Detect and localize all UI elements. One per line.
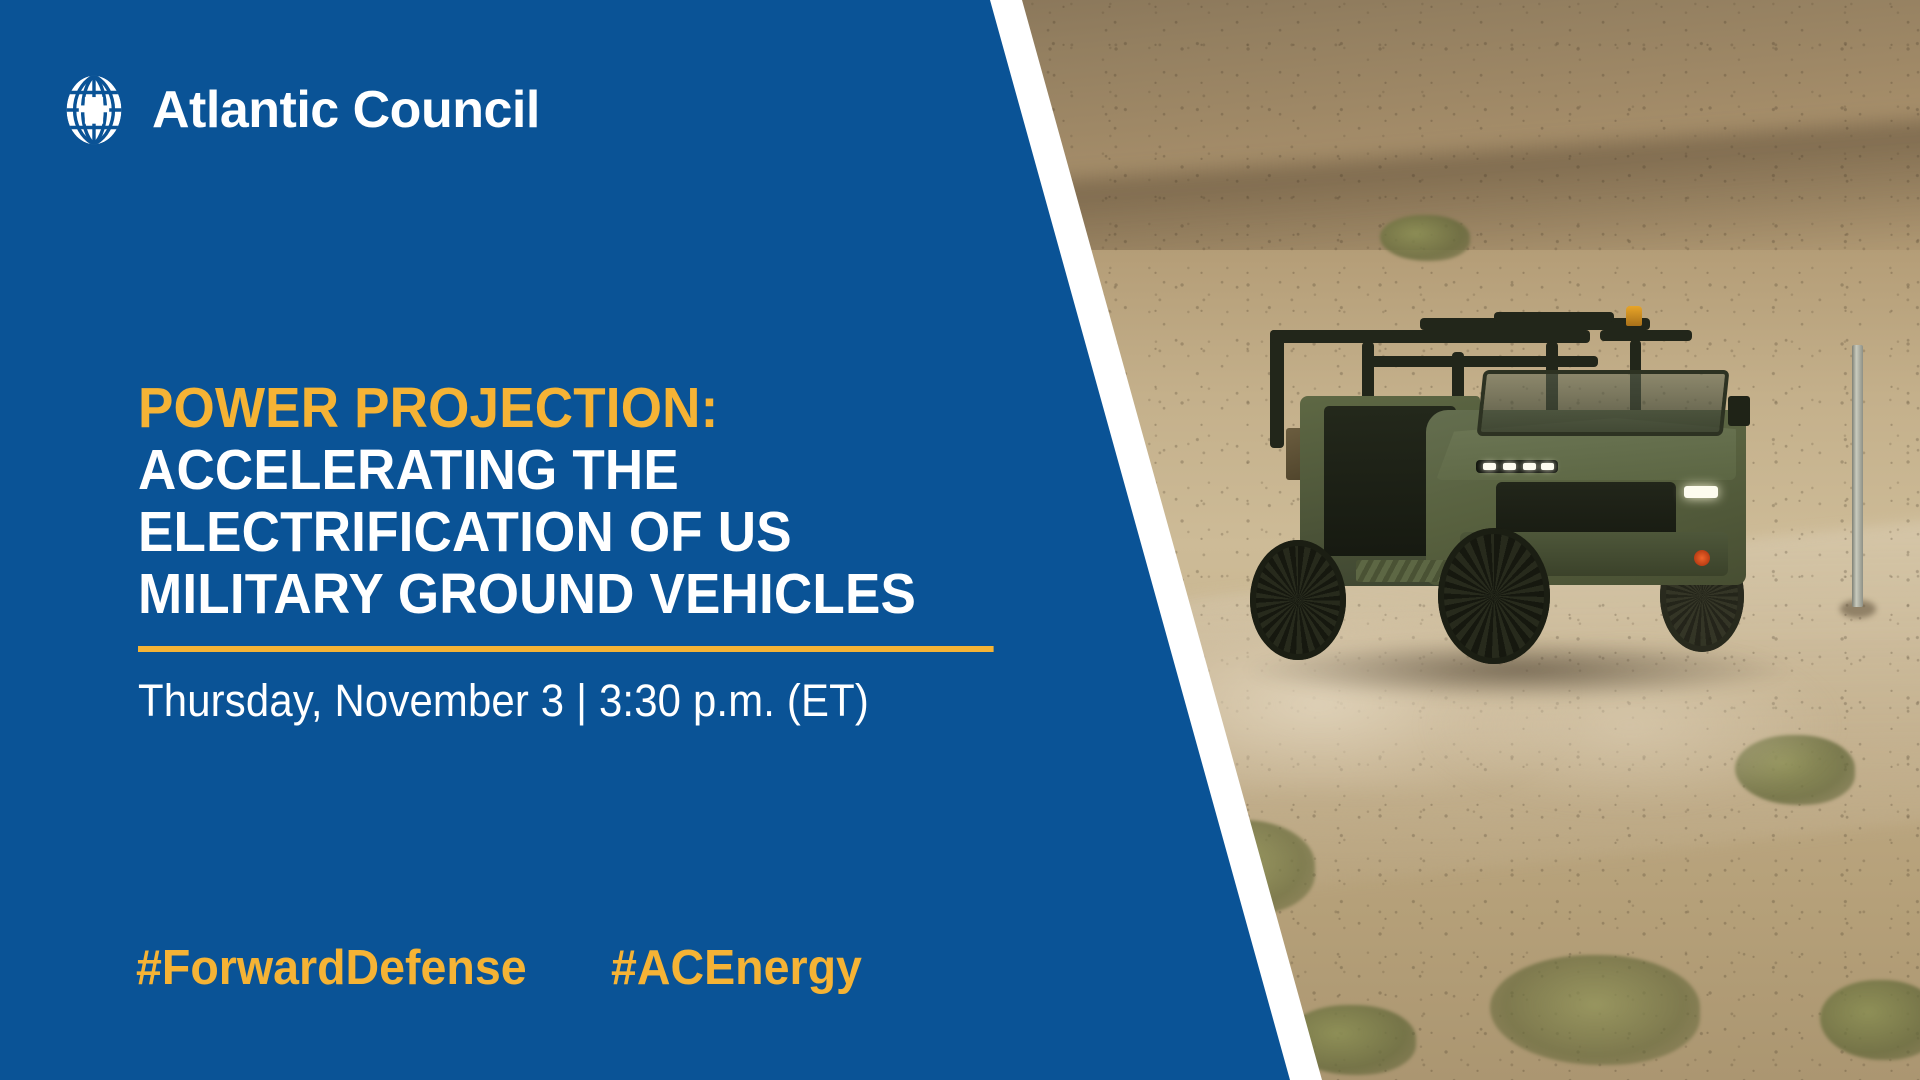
event-title-line-4: MILITARY GROUND VEHICLES — [138, 564, 882, 626]
hashtag-forward-defense[interactable]: #ForwardDefense — [136, 940, 527, 996]
vehicle-tire — [1250, 540, 1346, 660]
vehicle-light-bar — [1476, 460, 1558, 473]
event-date-time: Thursday, November 3 | 3:30 p.m. (ET) — [138, 675, 882, 727]
event-title-line-3: ELECTRIFICATION OF US — [138, 502, 882, 564]
event-title-line-2: ACCELERATING THE — [138, 440, 882, 502]
vehicle-headlamp — [1684, 486, 1718, 498]
vehicle-beacon-stem — [1631, 324, 1637, 350]
vehicle-beacon-light — [1626, 306, 1642, 326]
gold-divider-rule — [138, 646, 994, 652]
hashtag-ac-energy[interactable]: #ACEnergy — [611, 940, 862, 996]
vehicle-reflector — [1694, 550, 1710, 566]
event-promo-poster: Atlantic Council POWER PROJECTION: ACCEL… — [0, 0, 1920, 1080]
poster-content: Atlantic Council POWER PROJECTION: ACCEL… — [0, 0, 990, 1080]
event-title-block: POWER PROJECTION: ACCELERATING THE ELECT… — [138, 378, 938, 727]
globe-icon — [56, 72, 132, 148]
vehicle-tire — [1438, 528, 1550, 664]
brand-name: Atlantic Council — [152, 84, 540, 136]
brand-lockup: Atlantic Council — [56, 72, 540, 148]
military-ground-vehicle — [1228, 300, 1808, 720]
vehicle-mirror — [1728, 396, 1750, 426]
roadside-post — [1852, 345, 1863, 607]
vehicle-windshield — [1477, 370, 1730, 436]
event-title-line-1: POWER PROJECTION: — [138, 378, 882, 440]
desert-brush — [1380, 215, 1470, 261]
hashtag-group: #ForwardDefense #ACEnergy — [136, 940, 875, 996]
